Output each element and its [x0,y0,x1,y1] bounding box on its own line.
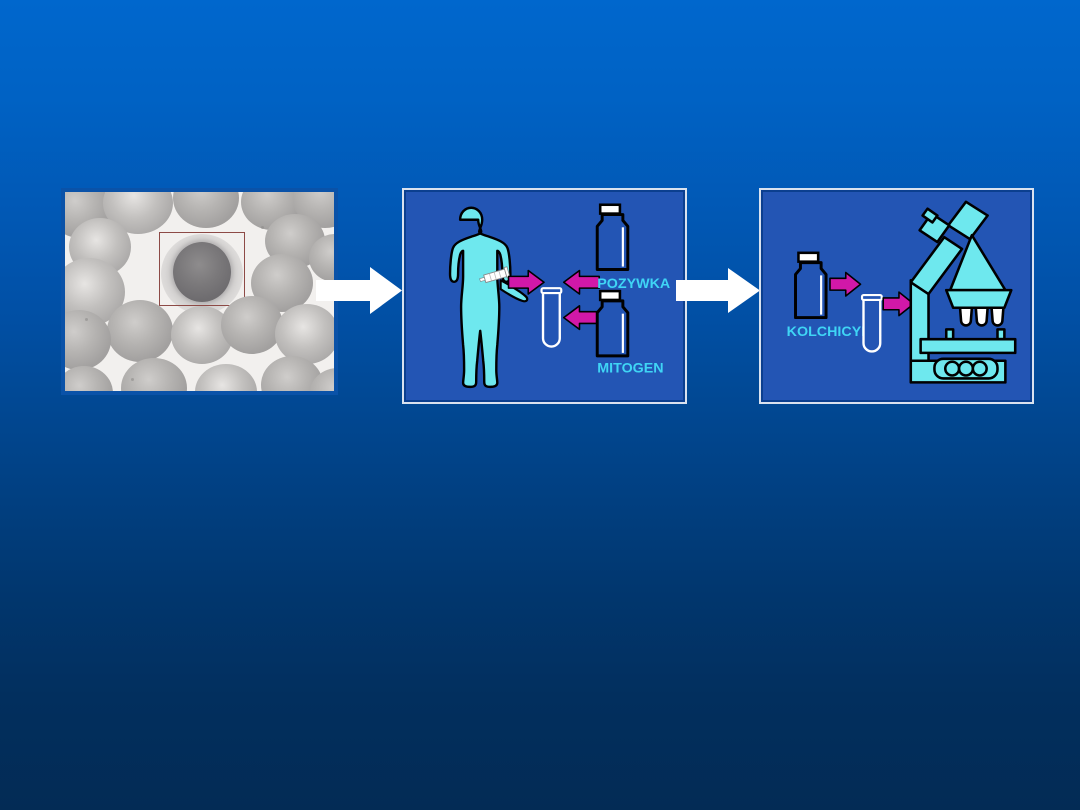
test-tube-icon [542,288,562,346]
test-tube-icon-culture [862,295,882,351]
bottle-icon-mitogen [597,291,628,356]
blood-smear-micrograph [62,189,337,394]
bottle-icon-colchicine [796,253,827,318]
slide-canvas: POZYWKA MITOGEN [0,0,1080,810]
label-mitogen: MITOGEN [597,361,663,377]
label-medium: POZYWKA [597,276,670,292]
flow-arrow-1 [316,267,402,314]
smear-image [65,192,334,391]
blood-collection-panel: POZYWKA MITOGEN [404,190,685,402]
colchicine-microscopy-panel: KOLCHICYNA [761,190,1032,402]
flow-arrow-2 [676,268,760,313]
bottle-icon-medium [597,205,628,270]
region-of-interest-rectangle [159,232,245,306]
